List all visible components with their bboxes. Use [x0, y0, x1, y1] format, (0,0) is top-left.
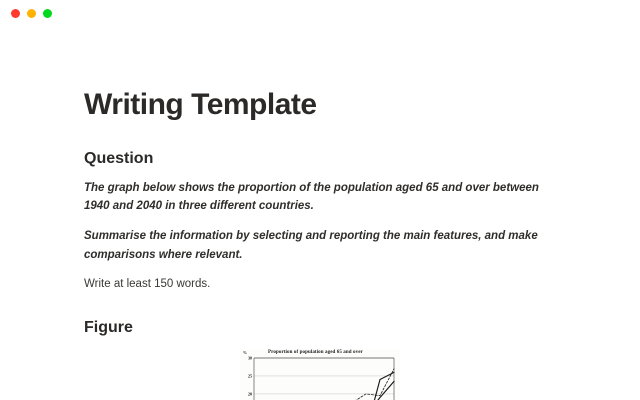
- page-title: Writing Template: [84, 88, 556, 123]
- svg-text:30: 30: [248, 356, 252, 361]
- document-body: Writing Template Question The graph belo…: [0, 88, 640, 400]
- figure-section-heading: Figure: [84, 318, 556, 337]
- window-titlebar: [0, 0, 640, 26]
- svg-text:25: 25: [248, 374, 252, 379]
- maximize-window-button[interactable]: [43, 9, 52, 18]
- question-section-heading: Question: [84, 149, 556, 168]
- question-prompt-line-2: Summarise the information by selecting a…: [84, 227, 539, 264]
- question-word-count-instruction: Write at least 150 words.: [84, 275, 539, 294]
- chart-image: % Proportion of population aged 65 and o…: [240, 349, 400, 400]
- figure-container: % Proportion of population aged 65 and o…: [84, 349, 556, 400]
- close-window-button[interactable]: [11, 9, 20, 18]
- question-prompt-line-1: The graph below shows the proportion of …: [84, 179, 539, 216]
- svg-text:20: 20: [248, 392, 252, 397]
- chart-plot: 1015202530: [240, 349, 400, 400]
- window-controls: [11, 9, 52, 18]
- minimize-window-button[interactable]: [27, 9, 36, 18]
